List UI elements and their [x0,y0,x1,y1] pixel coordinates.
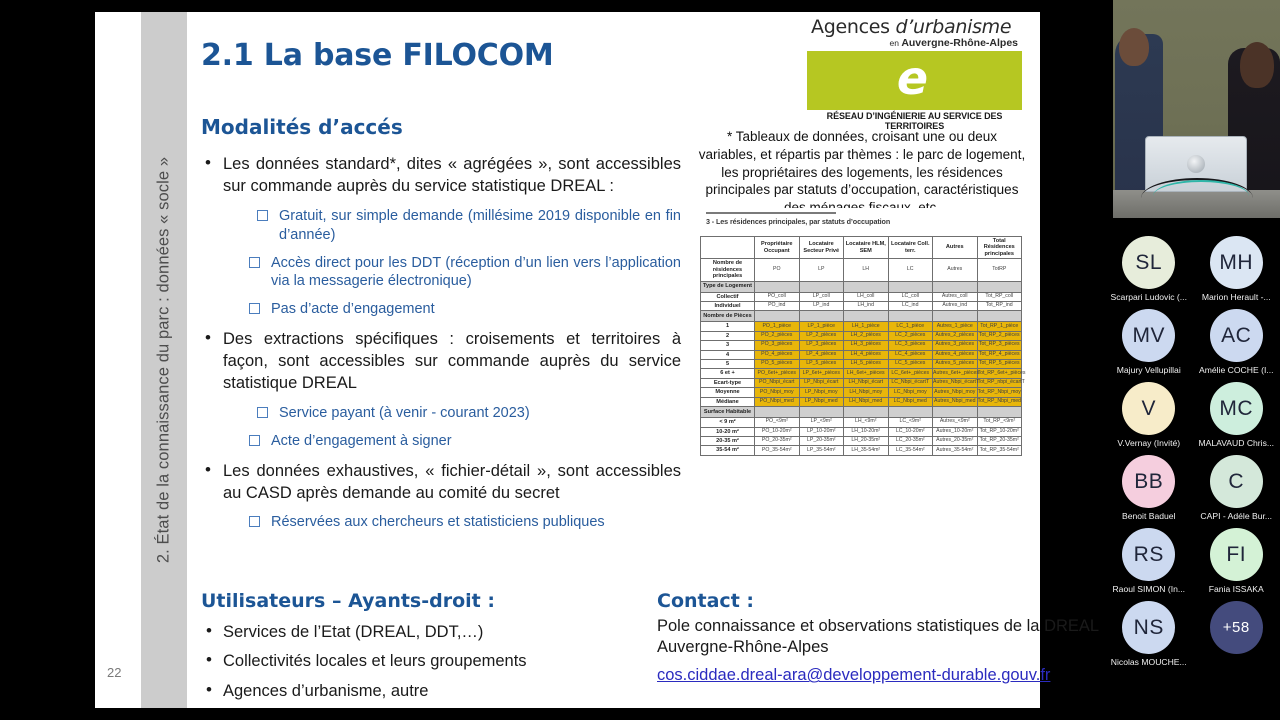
participant-name: V.Vernay (Invité) [1105,438,1193,448]
table-cell: LH_20-35m² [844,437,889,446]
table-cell: Autres_Nbpi_moy [933,388,978,397]
table-cell: PO_5_pièces [755,360,800,369]
logo-region-name: Auvergne-Rhône-Alpes [901,37,1018,49]
table-cell: Autres_Nbpi_écartT [933,378,978,387]
table-cell: PO_20-35m² [755,437,800,446]
table-cell: Tot_RP_nbpi_écartT [977,378,1022,387]
table-cell: LP_10-20m² [799,427,844,436]
table-row: Ecart-typePO_Nbpi_écartLP_Nbpi_écartLH_N… [701,378,1022,387]
table-row: 6 et +PO_6et+_piècesLP_6et+_piècesLH_6et… [701,369,1022,378]
table-row-header: 20-35 m² [701,437,755,446]
table-cell: LC_6et+_pièces [888,369,933,378]
table-row-header: 35-54 m² [701,446,755,455]
table-cell: LC_10-20m² [888,427,933,436]
table-header-cell: Locataire Coll. terr. [888,237,933,259]
table-cell: LH_4_pièces [844,350,889,359]
table-header-cell: Locataire HLM, SEM [844,237,889,259]
table-cell: LP_4_pièces [799,350,844,359]
participant-name: Benoit Baduel [1105,511,1193,521]
table-cell [933,407,978,418]
slide-page-number: 22 [107,665,121,680]
table-cell [844,311,889,322]
table-cell: Autres_ind [933,301,978,310]
table-row-header: 5 [701,360,755,369]
shared-screen-area: 2. État de la connaissance du parc : don… [0,0,1105,720]
table-row: Type de Logement [701,281,1022,292]
table-cell [799,281,844,292]
participant-name: Raoul SIMON (In... [1105,584,1193,594]
table-row-header: Nombre de résidences principales [701,259,755,281]
table-cell: PO_Nbpi_moy [755,388,800,397]
table-row: CollectifPO_collLP_collLH_collLC_collAut… [701,292,1022,301]
table-cell: PO_ind [755,301,800,310]
table-header-cell: Total Résidences principales [977,237,1022,259]
table-row: IndividuelPO_indLP_indLH_indLC_indAutres… [701,301,1022,310]
table-row: Surface Habitable [701,407,1022,418]
table-cell: Autres_3_pièces [933,341,978,350]
avatar: C [1210,455,1263,508]
logo-wordmark: Agences d’urbanisme [807,18,1022,38]
list-item: Services de l’Etat (DREAL, DDT,…) [201,624,671,641]
table-row-header: 3 [701,341,755,350]
sub-bullet-item: Service payant (à venir - courant 2023) [201,404,681,423]
table-row: 5PO_5_piècesLP_5_piècesLH_5_piècesLC_5_p… [701,360,1022,369]
avatar: MV [1122,309,1175,362]
list-item: Agences d’urbanisme, autre [201,683,671,700]
participant-tile[interactable]: MHMarion Herault -... [1193,236,1280,302]
table-cell: LC_ind [888,301,933,310]
participant-tile[interactable]: FIFania ISSAKA [1193,528,1280,594]
table-cell: LC_20-35m² [888,437,933,446]
participant-tile[interactable]: VV.Vernay (Invité) [1105,382,1193,448]
table-cell [799,407,844,418]
table-row-header: < 9 m² [701,418,755,427]
participants-grid: SLScarpari Ludovic (...MHMarion Herault … [1105,236,1280,667]
table-cell: LP_Nbpi_moy [799,388,844,397]
table-cell: PO_coll [755,292,800,301]
table-cell: Tot_RP_1_pièce [977,322,1022,331]
table-cell: LC_coll [888,292,933,301]
participant-tile[interactable]: NSNicolas MOUCHE... [1105,601,1193,667]
table-cell: LH_35-54m² [844,446,889,455]
contact-block: Contact : Pole connaissance et observati… [657,590,1107,685]
table-cell: PO_Nbpi_écart [755,378,800,387]
logo-green-block: e [807,51,1022,109]
avatar: MC [1210,382,1263,435]
table-cell: LC_Nbpi_med [888,397,933,406]
table-cell: Tot_RP_5_pièces [977,360,1022,369]
table-cell: LP_Nbpi_écart [799,378,844,387]
table-row: MédianePO_Nbpi_medLP_Nbpi_medLH_Nbpi_med… [701,397,1022,406]
slide-left-margin [95,12,141,708]
table-cell: LH_ind [844,301,889,310]
bullet-item: Des extractions spécifiques : croisement… [201,329,681,395]
table-cell [933,281,978,292]
participant-tile[interactable]: RSRaoul SIMON (In... [1105,528,1193,594]
table-row: MoyennePO_Nbpi_moyLP_Nbpi_moyLH_Nbpi_moy… [701,388,1022,397]
table-cell: LH_1_pièce [844,322,889,331]
table-cell: LP_35-54m² [799,446,844,455]
contact-title: Contact : [657,590,1107,612]
table-row: 35-54 m²PO_35-54m²LP_35-54m²LH_35-54m²LC… [701,446,1022,455]
table-cell: Tot_RP_<9m² [977,418,1022,427]
slide-section-label: 2. État de la connaissance du parc : don… [155,157,174,563]
participant-tile[interactable]: MVMajury Vellupillai [1105,309,1193,375]
table-row-header: 10-20 m² [701,427,755,436]
table-cell: LC_3_pièces [888,341,933,350]
video-person-right-head [1240,42,1274,88]
table-row-header: Nombre de Pièces [701,311,755,322]
table-cell: PO [755,259,800,281]
table-cell: Tot_RP_Nbpi_moy [977,388,1022,397]
table-cell: LH_Nbpi_med [844,397,889,406]
table-cell: Tot_RP_4_pièces [977,350,1022,359]
users-block: Utilisateurs – Ayants-droit : Services d… [201,590,671,700]
table-cell: Autres_Nbpi_med [933,397,978,406]
participant-tile[interactable]: CCAPI - Adéle Bur... [1193,455,1280,521]
table-cell: LH_3_pièces [844,341,889,350]
participant-name: Scarpari Ludovic (... [1105,292,1193,302]
participant-tile[interactable]: SLScarpari Ludovic (... [1105,236,1193,302]
table-row-header: Surface Habitable [701,407,755,418]
video-person-left-head [1119,28,1149,66]
table-row-header: Médiane [701,397,755,406]
avatar: NS [1122,601,1175,654]
avatar: SL [1122,236,1175,289]
table-row: Nombre de Pièces [701,311,1022,322]
table-cell: LC_1_pièce [888,322,933,331]
logo-region: en Auvergne-Rhône-Alpes [807,37,1022,49]
table-cell: Tot_RP_20-35m² [977,437,1022,446]
agences-urbanisme-logo: Agences d’urbanisme en Auvergne-Rhône-Al… [807,18,1022,131]
table-cell: LP_<9m² [799,418,844,427]
sub-bullet-item: Accès direct pour les DDT (réception d’u… [201,254,681,292]
bullet-list: Les données standard*, dites « agrégées … [201,144,681,532]
table-cell: PO_<9m² [755,418,800,427]
table-cell [888,407,933,418]
caption-rule [706,212,836,214]
list-item: Collectivités locales et leurs groupemen… [201,653,671,670]
table-cell: LP_ind [799,301,844,310]
table-cell: LC_2_pièces [888,331,933,340]
table-header-cell [701,237,755,259]
table-cell: LH [844,259,889,281]
table-cell: Autres_6et+_pièces [933,369,978,378]
table-cell: LP_coll [799,292,844,301]
sub-bullet-item: Réservées aux chercheurs et statisticien… [201,513,681,532]
table-cell: Autres_35-54m² [933,446,978,455]
table-cell: LH_<9m² [844,418,889,427]
table-row: 20-35 m²PO_20-35m²LP_20-35m²LH_20-35m²LC… [701,437,1022,446]
logo-word-2: gences [824,16,896,38]
table-cell: LP_Nbpi_med [799,397,844,406]
table-cell [933,311,978,322]
table-header-cell: Locataire Secteur Privé [799,237,844,259]
table-header-cell: Propriétaire Occupant [755,237,800,259]
participant-name: Majury Vellupillai [1105,365,1193,375]
table-row-header: 1 [701,322,755,331]
table-caption: 3 - Les résidences principales, par stat… [706,217,1030,226]
active-speaker-video[interactable] [1113,0,1280,218]
table-cell: LC_35-54m² [888,446,933,455]
participant-name: Fania ISSAKA [1193,584,1280,594]
avatar: FI [1210,528,1263,581]
slide-section-band: 2. État de la connaissance du parc : don… [141,12,187,708]
filocom-table: Propriétaire Occupant Locataire Secteur … [700,236,1022,456]
table-cell: Autres_4_pièces [933,350,978,359]
table-cell [977,407,1022,418]
table-header-row: Propriétaire Occupant Locataire Secteur … [701,237,1022,259]
participant-name: MALAVAUD Chris... [1193,438,1280,448]
table-cell [844,281,889,292]
table-cell: Tot_RP_35-54m² [977,446,1022,455]
table-cell: LC_Nbpi_moy [888,388,933,397]
screen-root: 2. État de la connaissance du parc : don… [0,0,1280,720]
table-cell: Tot_RP_10-20m² [977,427,1022,436]
table-cell: PO_3_pièces [755,341,800,350]
participant-tile[interactable]: +58 [1193,601,1280,667]
table-cell: LC [888,259,933,281]
avatar: MH [1210,236,1263,289]
table-row-header: 4 [701,350,755,359]
table-cell: LP_3_pièces [799,341,844,350]
table-cell: TotRP [977,259,1022,281]
table-row: 2PO_2_piècesLP_2_piècesLH_2_piècesLC_2_p… [701,331,1022,340]
section-subtitle: Modalités d’accés [201,115,403,139]
video-call-panel: SLScarpari Ludovic (...MHMarion Herault … [1105,0,1280,720]
table-cell: PO_10-20m² [755,427,800,436]
avatar: V [1122,382,1175,435]
table-row-header: Ecart-type [701,378,755,387]
table-cell: Autres_<9m² [933,418,978,427]
users-title: Utilisateurs – Ayants-droit : [201,590,671,612]
table-cell [977,311,1022,322]
table-cell: LP [799,259,844,281]
participant-tile[interactable]: MCMALAVAUD Chris... [1193,382,1280,448]
table-cell: LH_10-20m² [844,427,889,436]
table-cell: Tot_RP_6et+_pièces [977,369,1022,378]
sub-bullet-item: Gratuit, sur simple demande (millésime 2… [201,207,681,245]
table-cell [844,407,889,418]
table-cell: Tot_RP_Nbpi_med [977,397,1022,406]
table-row: 3PO_3_piècesLP_3_piècesLH_3_piècesLC_3_p… [701,341,1022,350]
table-row: 4PO_4_piècesLP_4_piècesLH_4_piècesLC_4_p… [701,350,1022,359]
table-cell: Tot_RP_ind [977,301,1022,310]
table-cell [755,311,800,322]
table-cell: Tot_RP_coll [977,292,1022,301]
table-cell: Autres_20-35m² [933,437,978,446]
table-screenshot: 3 - Les résidences principales, par stat… [700,208,1030,456]
table-cell: PO_2_pièces [755,331,800,340]
table-cell [799,311,844,322]
slide-content: Agences d’urbanisme en Auvergne-Rhône-Al… [187,12,1040,708]
table-cell: Autres_2_pièces [933,331,978,340]
participants-overflow-badge: +58 [1210,601,1263,654]
table-row-header: Individuel [701,301,755,310]
table-cell: Autres_1_pièce [933,322,978,331]
presentation-slide: 2. État de la connaissance du parc : don… [95,12,1040,708]
bullet-item: Les données standard*, dites « agrégées … [201,154,681,198]
table-cell: LC_4_pièces [888,350,933,359]
logo-region-prefix: en [889,38,901,48]
table-cell: Autres_10-20m² [933,427,978,436]
participant-name: CAPI - Adéle Bur... [1193,511,1280,521]
table-cell: LP_5_pièces [799,360,844,369]
avatar: BB [1122,455,1175,508]
users-list: Services de l’Etat (DREAL, DDT,…) Collec… [201,624,671,700]
page-title: 2.1 La base FILOCOM [201,38,554,73]
table-cell: Tot_RP_2_pièces [977,331,1022,340]
contact-text: Pole connaissance et observations statis… [657,616,1107,658]
participant-name: Nicolas MOUCHE... [1105,657,1193,667]
table-cell: LP_2_pièces [799,331,844,340]
bullet-item: Les données exhaustives, « fichier-détai… [201,461,681,505]
participant-name: Marion Herault -... [1193,292,1280,302]
table-row-header: Collectif [701,292,755,301]
table-row-header: 6 et + [701,369,755,378]
table-cell: PO_4_pièces [755,350,800,359]
table-cell: LH_Nbpi_écart [844,378,889,387]
logo-word-3: d’urbanisme [895,16,1011,38]
table-cell: LC_5_pièces [888,360,933,369]
table-cell: LC_Nbpi_écartT [888,378,933,387]
table-body: Nombre de résidences principalesPOLPLHLC… [701,259,1022,456]
table-row-header: Moyenne [701,388,755,397]
table-cell: PO_35-54m² [755,446,800,455]
logo-mark-letter: e [897,51,932,105]
table-cell [755,407,800,418]
table-row-header: Type de Logement [701,281,755,292]
participant-name: Amélie COCHE (I... [1193,365,1280,375]
table-cell: PO_6et+_pièces [755,369,800,378]
table-cell: LH_2_pièces [844,331,889,340]
table-header-cell: Autres [933,237,978,259]
participant-tile[interactable]: ACAmélie COCHE (I... [1193,309,1280,375]
table-row: < 9 m²PO_<9m²LP_<9m²LH_<9m²LC_<9m²Autres… [701,418,1022,427]
table-cell [755,281,800,292]
table-cell: Autres_coll [933,292,978,301]
table-cell: LC_<9m² [888,418,933,427]
table-cell: PO_Nbpi_med [755,397,800,406]
table-cell: LH_coll [844,292,889,301]
avatar: AC [1210,309,1263,362]
table-row: 1PO_1_pièceLP_1_pièceLH_1_pièceLC_1_pièc… [701,322,1022,331]
contact-email-link[interactable]: cos.ciddae.dreal-ara@developpement-durab… [657,666,1050,685]
participant-tile[interactable]: BBBenoit Baduel [1105,455,1193,521]
table-cell: LP_20-35m² [799,437,844,446]
table-cell: Autres [933,259,978,281]
logo-glyphs: e [807,51,1022,109]
table-cell: Autres_5_pièces [933,360,978,369]
footnote-text: * Tableaux de données, croisant une ou d… [697,128,1027,217]
avatar: RS [1122,528,1175,581]
table-cell [977,281,1022,292]
table-cell [888,281,933,292]
table-cell: LP_6et+_pièces [799,369,844,378]
table-cell: LH_6et+_pièces [844,369,889,378]
table-cell: LP_1_pièce [799,322,844,331]
table-cell: LH_Nbpi_moy [844,388,889,397]
table-cell: PO_1_pièce [755,322,800,331]
table-cell [888,311,933,322]
table-row: 10-20 m²PO_10-20m²LP_10-20m²LH_10-20m²LC… [701,427,1022,436]
sub-bullet-item: Pas d’acte d’engagement [201,300,681,319]
table-cell: LH_5_pièces [844,360,889,369]
table-row-header: 2 [701,331,755,340]
table-row: Nombre de résidences principalesPOLPLHLC… [701,259,1022,281]
logo-word-1: A [811,16,824,38]
table-cell: Tot_RP_3_pièces [977,341,1022,350]
sub-bullet-item: Acte d’engagement à signer [201,432,681,451]
